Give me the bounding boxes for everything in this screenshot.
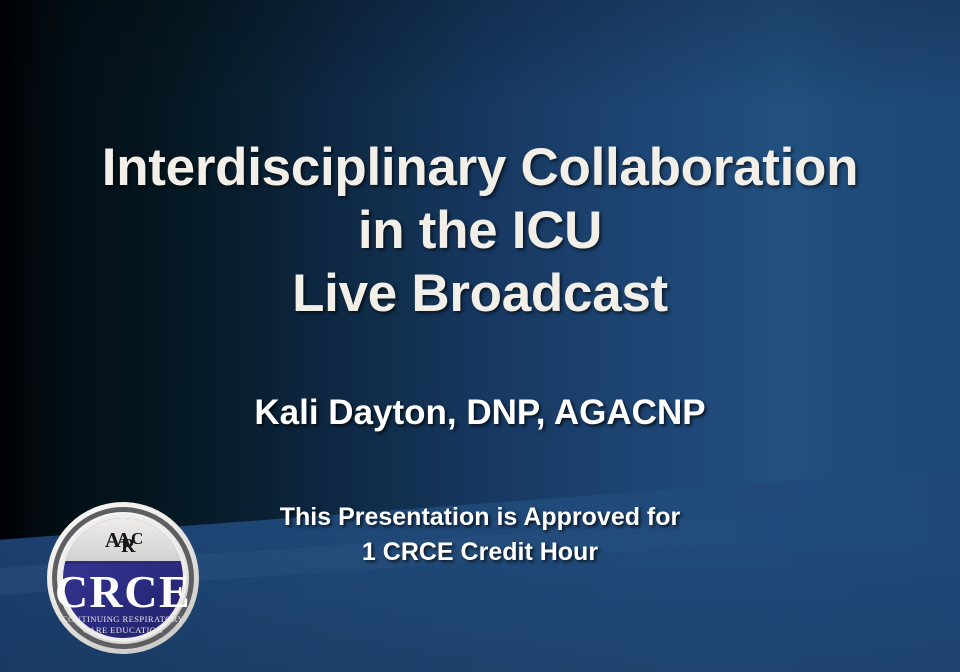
title-line-1: Interdisciplinary Collaboration — [0, 136, 960, 199]
svg-text:CRCE: CRCE — [55, 566, 191, 617]
svg-text:CARE EDUCATION: CARE EDUCATION — [83, 625, 163, 635]
crce-logo: AA R C CRCE CONTINUING RESPIRATORY CARE … — [45, 500, 201, 656]
title-line-3: Live Broadcast — [0, 262, 960, 325]
title-line-2: in the ICU — [0, 199, 960, 262]
slide-title: Interdisciplinary Collaboration in the I… — [0, 136, 960, 325]
presentation-slide: Interdisciplinary Collaboration in the I… — [0, 0, 960, 672]
svg-text:CONTINUING RESPIRATORY: CONTINUING RESPIRATORY — [62, 614, 184, 624]
presenter-name: Kali Dayton, DNP, AGACNP — [0, 391, 960, 435]
svg-text:C: C — [131, 529, 143, 548]
